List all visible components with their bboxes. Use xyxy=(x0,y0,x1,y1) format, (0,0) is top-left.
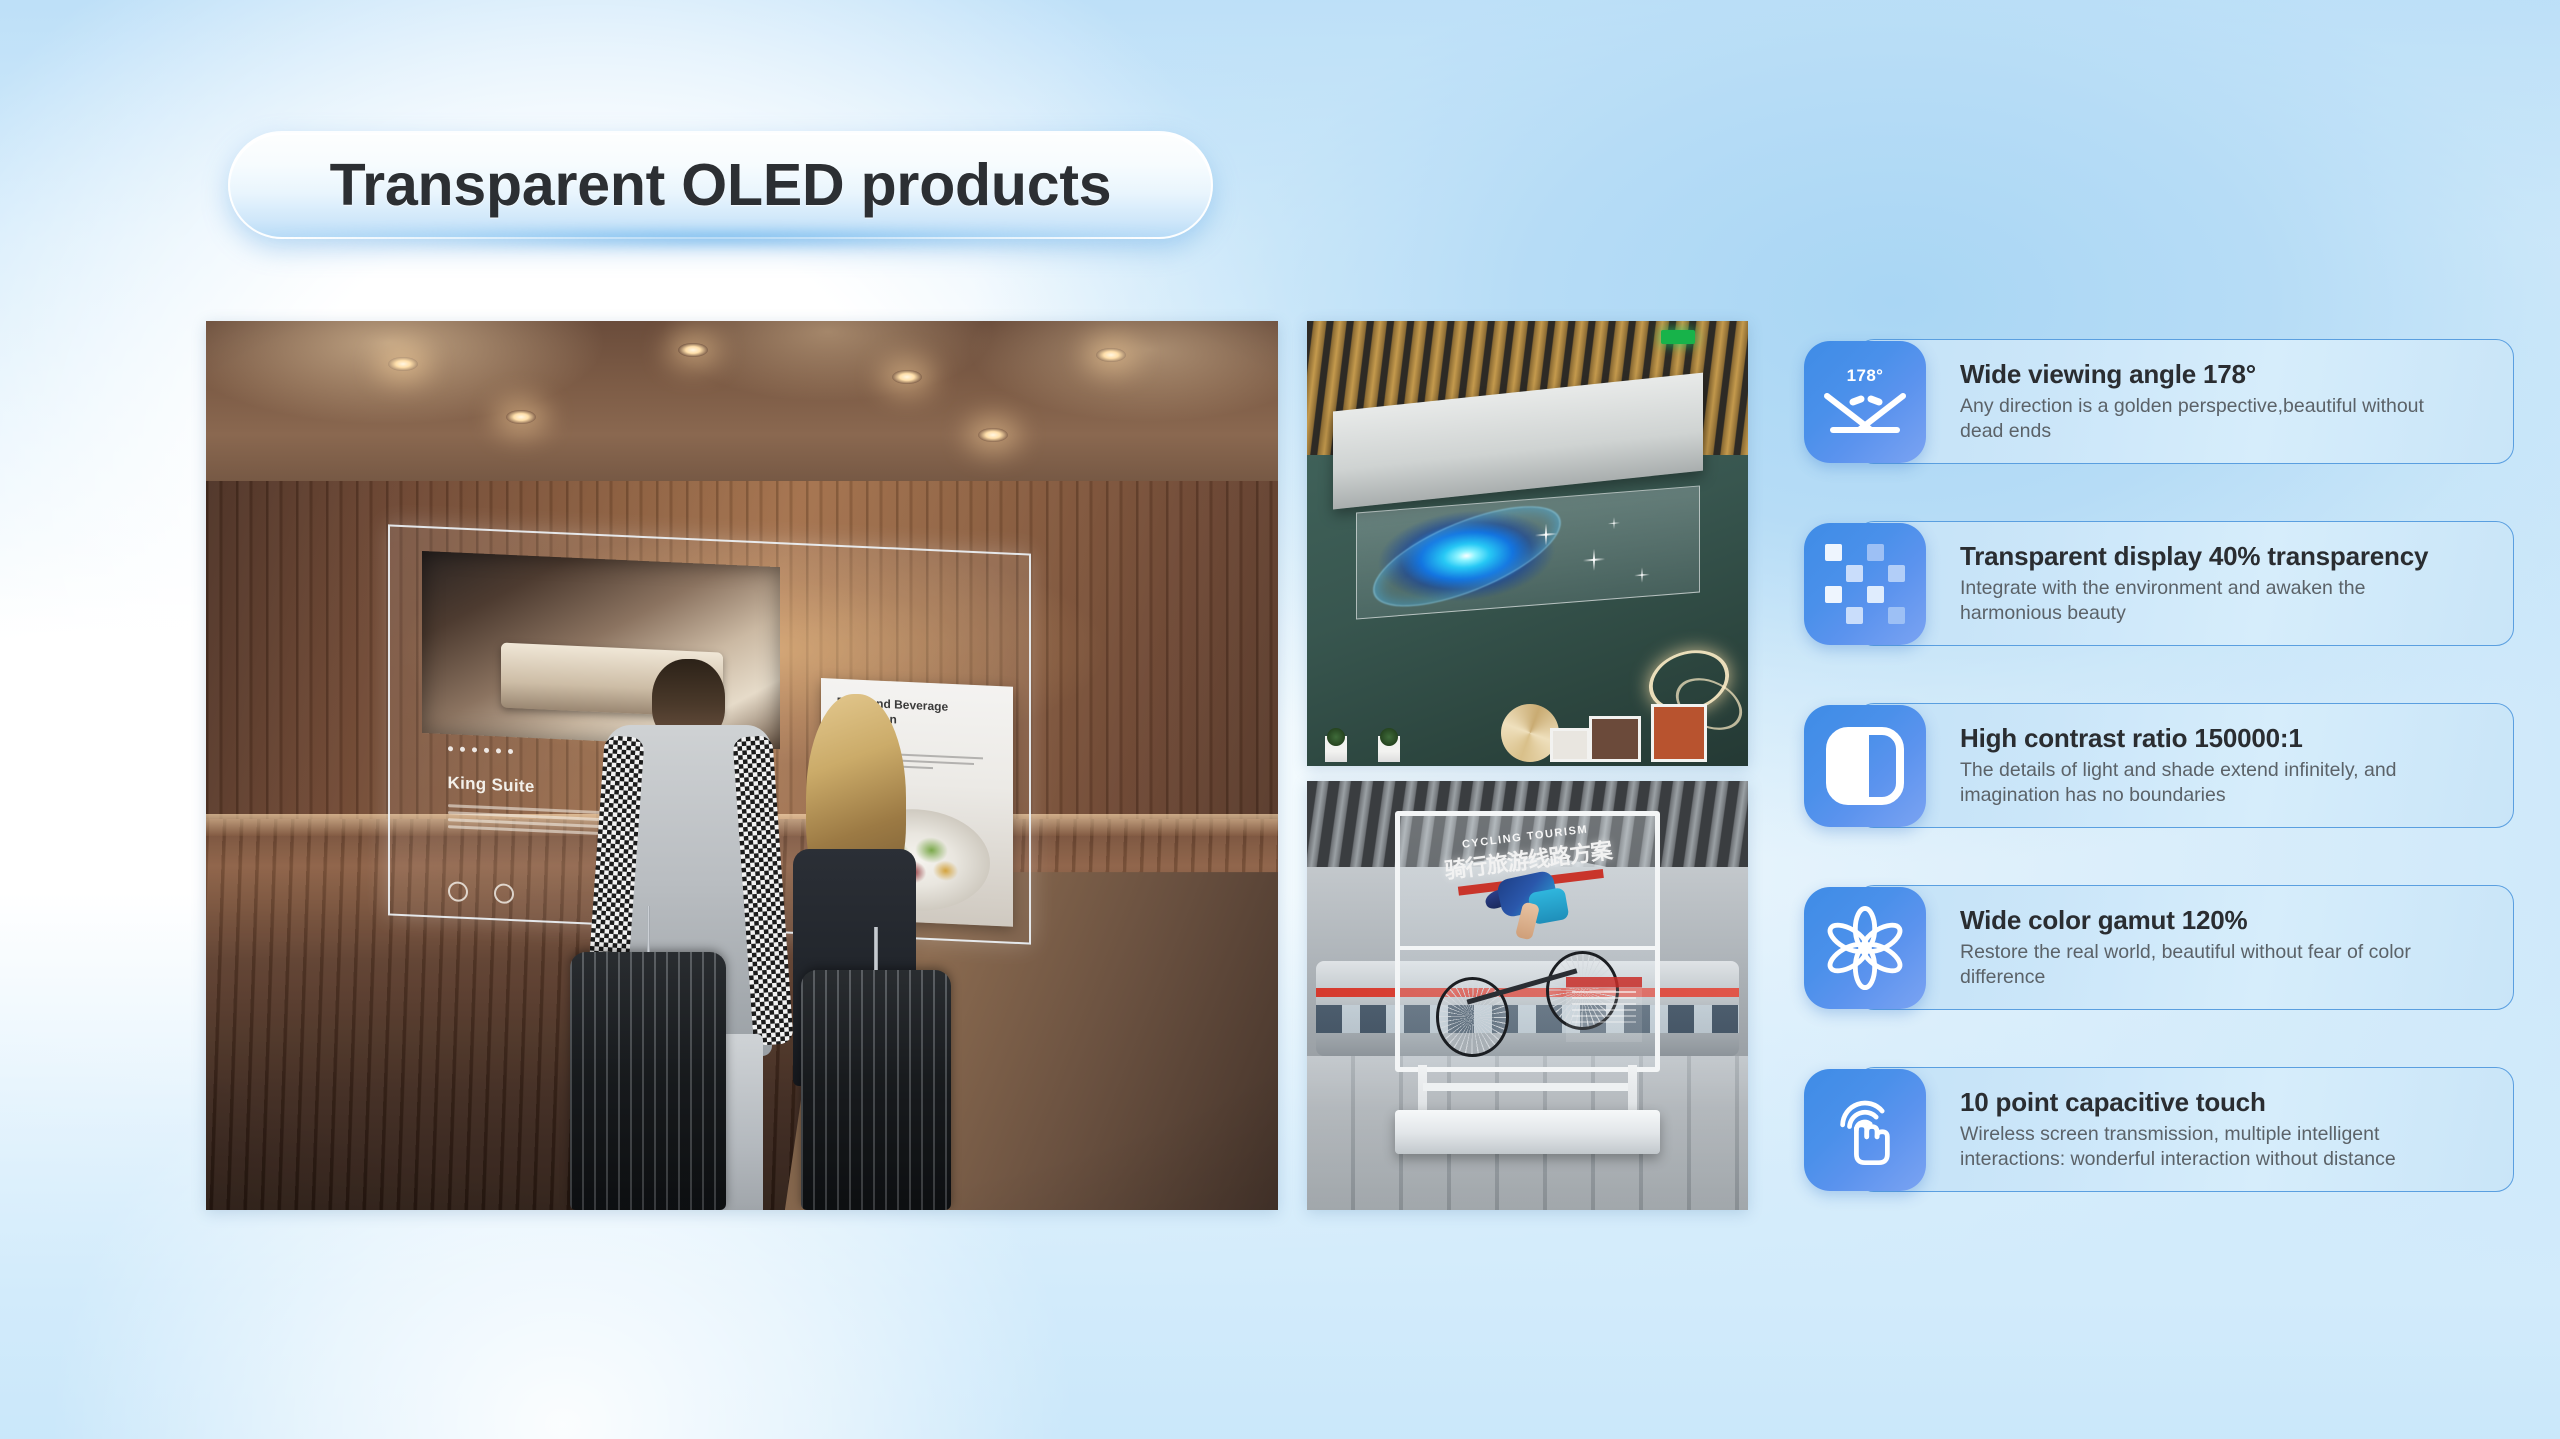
feature-list: 178° Wide viewing angle 178° Any directi… xyxy=(1804,333,2514,1198)
feature-title: 10 point capacitive touch xyxy=(1960,1087,2466,1118)
suitcase-handle xyxy=(874,927,877,970)
feature-desc: The details of light and shade extend in… xyxy=(1960,758,2466,808)
carousel-dots xyxy=(448,746,513,754)
ceiling-downlight xyxy=(388,357,418,371)
feature-text: 10 point capacitive touch Wireless scree… xyxy=(1960,1087,2466,1172)
hero-scene: King Suite Food and Beverage Promotion xyxy=(206,321,1278,1210)
star-sparkle-icon xyxy=(1534,523,1556,547)
star-sparkle-icon xyxy=(1582,548,1604,572)
exit-sign-icon xyxy=(1661,330,1695,344)
feature-card-color-gamut[interactable]: Wide color gamut 120% Restore the real w… xyxy=(1804,879,2514,1016)
suitcase xyxy=(570,952,725,1210)
feature-desc: Restore the real world, beautiful withou… xyxy=(1960,940,2466,990)
ceiling-downlight xyxy=(1096,348,1126,362)
feature-text: High contrast ratio 150000:1 The details… xyxy=(1960,723,2466,808)
page-title: Transparent OLED products xyxy=(330,151,1112,219)
potted-plant xyxy=(1325,736,1347,762)
ceiling-display-photo xyxy=(1307,321,1748,766)
kiosk-info-block xyxy=(1566,977,1642,1042)
ceiling-downlight xyxy=(978,428,1008,442)
potted-plant xyxy=(1378,736,1400,762)
touch-hand-icon xyxy=(1804,1069,1926,1191)
viewing-angle-icon: 178° xyxy=(1804,341,1926,463)
ceiling-downlight xyxy=(506,410,536,424)
feature-text: Wide viewing angle 178° Any direction is… xyxy=(1960,359,2466,444)
ceiling-scene xyxy=(1307,321,1748,766)
half-filled-circle xyxy=(1826,727,1904,805)
feature-desc: Any direction is a golden perspective,be… xyxy=(1960,394,2466,444)
wall-picture-frame xyxy=(1550,728,1590,762)
checkerboard-grid xyxy=(1825,544,1905,624)
contrast-ratio-icon xyxy=(1804,705,1926,827)
page-title-pill: Transparent OLED products xyxy=(228,131,1213,239)
wall-picture-frame xyxy=(1651,704,1707,762)
kiosk-crossbar xyxy=(1423,1083,1632,1091)
kiosk-display-photo: CYCLING TOURISM 骑行旅游线路方案 xyxy=(1307,781,1748,1210)
star-sparkle-icon xyxy=(1633,567,1648,584)
star-sparkle-icon xyxy=(1608,517,1620,530)
feature-card-touch[interactable]: 10 point capacitive touch Wireless scree… xyxy=(1804,1061,2514,1198)
ceiling-downlight xyxy=(892,370,922,384)
ceiling-downlight xyxy=(678,343,708,357)
color-gamut-flower-icon xyxy=(1804,887,1926,1009)
viewing-angle-degrees: 178° xyxy=(1819,366,1911,386)
feature-title: Wide viewing angle 178° xyxy=(1960,359,2466,390)
feature-card-viewing-angle[interactable]: 178° Wide viewing angle 178° Any directi… xyxy=(1804,333,2514,470)
wall-picture-frame xyxy=(1589,716,1641,762)
feature-desc: Wireless screen transmission, multiple i… xyxy=(1960,1122,2466,1172)
bicycle-wheel xyxy=(1436,977,1509,1056)
feature-text: Transparent display 40% transparency Int… xyxy=(1960,541,2466,626)
suitcase-handle xyxy=(647,906,650,952)
transparent-oled-screen: CYCLING TOURISM 骑行旅游线路方案 xyxy=(1395,811,1660,1072)
hotel-lobby-photo: King Suite Food and Beverage Promotion xyxy=(206,321,1278,1210)
oled-panel-title: King Suite xyxy=(448,773,535,797)
kiosk-base xyxy=(1395,1110,1660,1155)
feature-card-transparency[interactable]: Transparent display 40% transparency Int… xyxy=(1804,515,2514,652)
galaxy-vortex-graphic xyxy=(1377,504,1555,608)
feature-desc: Integrate with the environment and awake… xyxy=(1960,576,2466,626)
feature-text: Wide color gamut 120% Restore the real w… xyxy=(1960,905,2466,990)
suitcase xyxy=(801,970,951,1210)
kiosk-scene: CYCLING TOURISM 骑行旅游线路方案 xyxy=(1307,781,1748,1210)
transparency-grid-icon xyxy=(1804,523,1926,645)
oled-spec-badges xyxy=(448,881,514,904)
feature-title: Wide color gamut 120% xyxy=(1960,905,2466,936)
transparent-oled-stand: CYCLING TOURISM 骑行旅游线路方案 xyxy=(1395,811,1660,1154)
feature-title: Transparent display 40% transparency xyxy=(1960,541,2466,572)
feature-card-contrast[interactable]: High contrast ratio 150000:1 The details… xyxy=(1804,697,2514,834)
feature-title: High contrast ratio 150000:1 xyxy=(1960,723,2466,754)
